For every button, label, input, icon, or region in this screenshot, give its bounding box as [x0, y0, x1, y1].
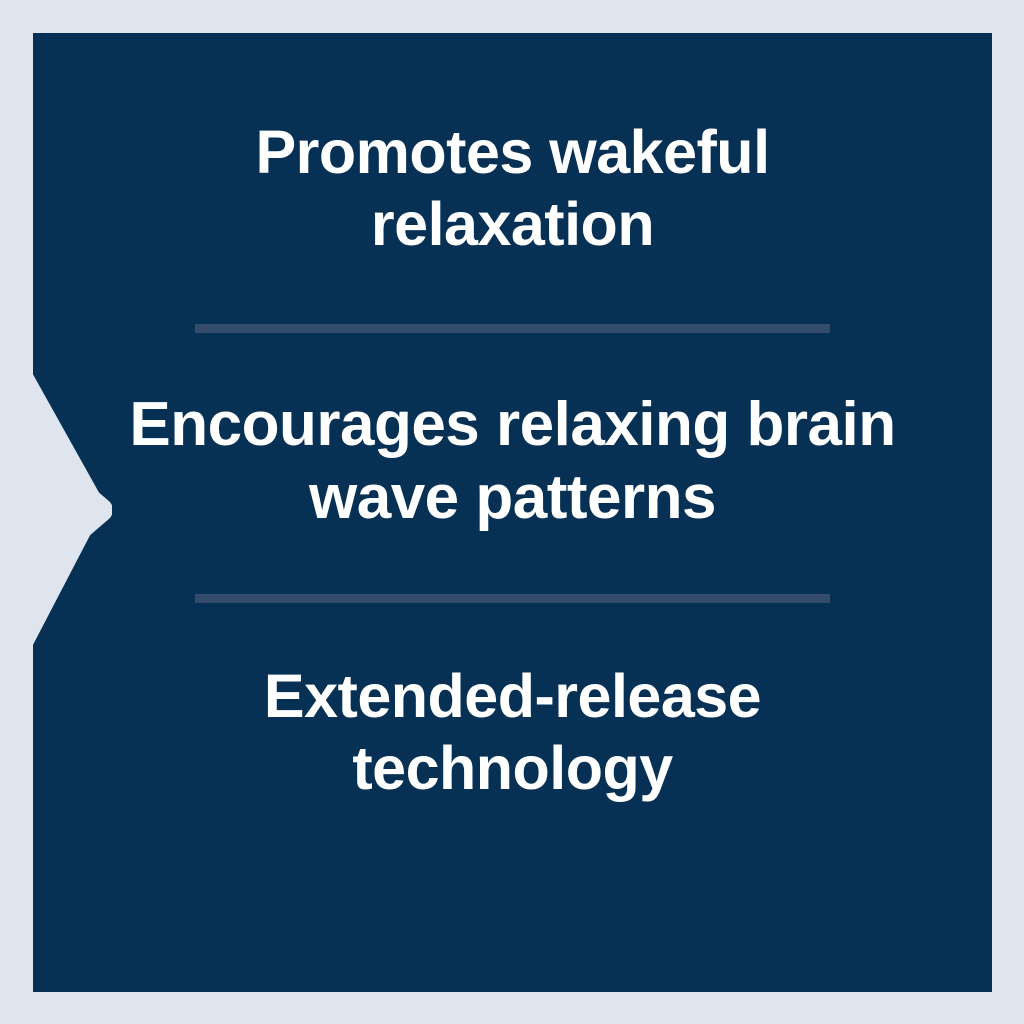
benefits-list: Promotes wakeful relaxation Encourages r… — [33, 33, 992, 992]
benefit-item-2: Encourages relaxing brain wave patterns — [33, 388, 992, 534]
benefit-item-3: Extended-release technology — [33, 661, 992, 805]
benefits-graphic: Promotes wakeful relaxation Encourages r… — [0, 0, 1024, 1024]
benefit-divider-2 — [195, 594, 830, 603]
benefit-item-1: Promotes wakeful relaxation — [33, 117, 992, 261]
benefit-divider-1 — [195, 324, 830, 333]
